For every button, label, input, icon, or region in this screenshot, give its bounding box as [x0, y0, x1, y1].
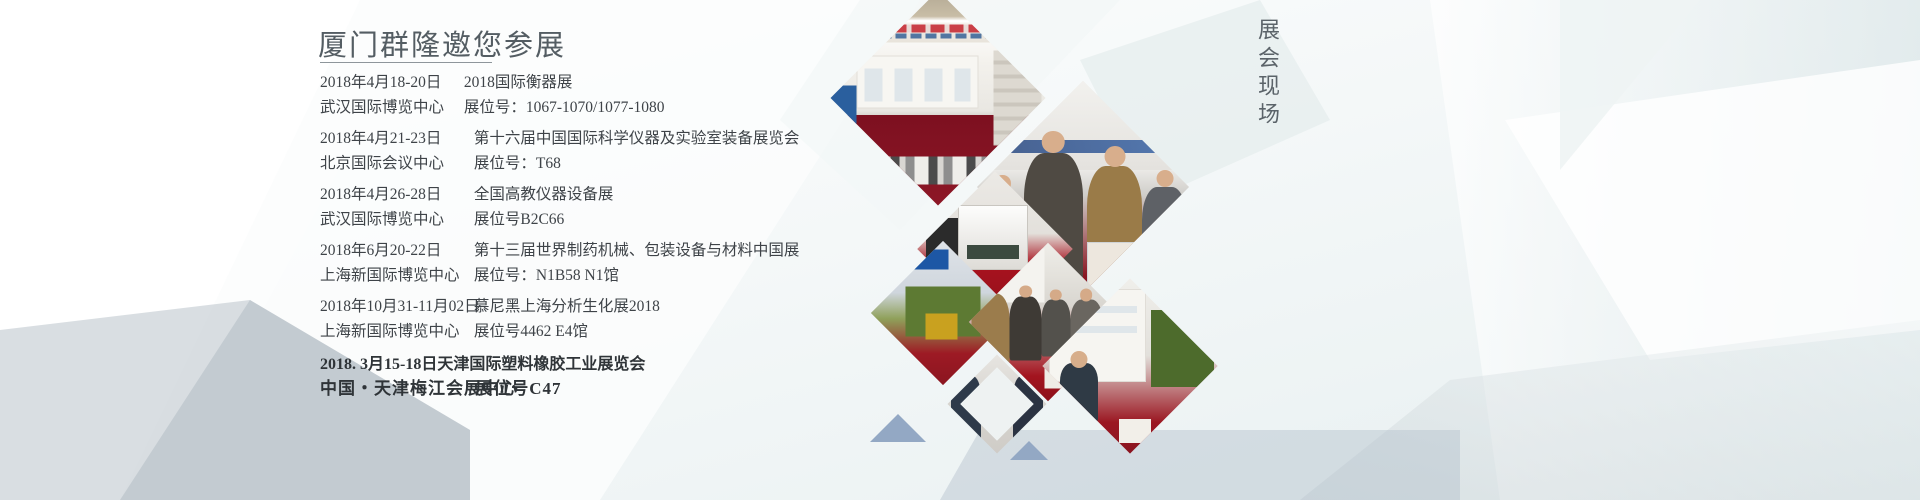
entry-booth: 展位号C47 — [475, 377, 561, 401]
entry-venue: 上海新国际博览中心 — [320, 263, 470, 288]
schedule-entry: 2018年4月26-28日 全国高教仪器设备展 武汉国际博览中心 展位号B2C6… — [320, 182, 613, 232]
schedule-entry: 2018年4月21-23日 第十六届中国国际科学仪器及实验室装备展览会 北京国际… — [320, 126, 799, 176]
entry-date: 2018年6月20-22日 — [320, 238, 470, 263]
entry-date: 2018年10月31-11月02日 — [320, 294, 470, 319]
schedule-entry: 2018年4月18-20日 2018国际衡器展 武汉国际博览中心 展位号：106… — [320, 70, 665, 120]
entry-venue: 武汉国际博览中心 — [320, 95, 460, 120]
entry-line-bottom: 武汉国际博览中心 展位号：1067-1070/1077-1080 — [320, 95, 665, 120]
entry-date: 2018年4月21-23日 — [320, 126, 470, 151]
entry-venue: 北京国际会议中心 — [320, 151, 470, 176]
entry-venue: 上海新国际博览中心 — [320, 319, 470, 344]
entry-booth: 展位号：N1B58 N1馆 — [474, 263, 619, 288]
photo-collage — [840, 0, 1260, 500]
entry-booth: 展位号4462 E4馆 — [474, 319, 588, 344]
entry-line-bottom: 上海新国际博览中心 展位号4462 E4馆 — [320, 319, 660, 344]
entry-booth: 展位号B2C66 — [474, 207, 564, 232]
entry-event: 全国高教仪器设备展 — [474, 182, 614, 207]
entry-line-top: 2018年6月20-22日 第十三届世界制药机械、包装设备与材料中国展 — [320, 238, 799, 263]
page-title: 厦门群隆邀您参展 — [318, 22, 566, 64]
entry-line-bottom: 上海新国际博览中心 展位号：N1B58 N1馆 — [320, 263, 799, 288]
schedule-entry-highlight: 2018. 3月15-18日天津国际塑料橡胶工业展览会 中国・天津梅江会展中心 … — [320, 353, 645, 401]
accent-triangle-icon — [870, 414, 926, 442]
entry-event: 2018国际衡器展 — [464, 70, 573, 95]
entry-line-top: 2018年4月21-23日 第十六届中国国际科学仪器及实验室装备展览会 — [320, 126, 799, 151]
title-underline — [320, 62, 492, 63]
entry-date: 2018年4月18-20日 — [320, 70, 460, 95]
entry-event: 慕尼黑上海分析生化展2018 — [474, 294, 660, 319]
entry-line-top: 2018年10月31-11月02日 慕尼黑上海分析生化展2018 — [320, 294, 660, 319]
accent-triangle-icon — [1010, 441, 1048, 460]
entry-event: 第十三届世界制药机械、包装设备与材料中国展 — [474, 238, 800, 263]
entry-event: 第十六届中国国际科学仪器及实验室装备展览会 — [474, 126, 800, 151]
entry-line-top: 2018年4月26-28日 全国高教仪器设备展 — [320, 182, 613, 207]
entry-date: 2018. 3月15-18日天津国际塑料橡胶工业展览会 — [320, 353, 645, 377]
entry-date: 2018年4月26-28日 — [320, 182, 470, 207]
entry-venue: 中国・天津梅江会展中心 — [320, 377, 470, 401]
entry-booth: 展位号：1067-1070/1077-1080 — [464, 95, 665, 120]
schedule-entry: 2018年6月20-22日 第十三届世界制药机械、包装设备与材料中国展 上海新国… — [320, 238, 799, 288]
entry-line-bottom: 武汉国际博览中心 展位号B2C66 — [320, 207, 613, 232]
entry-booth: 展位号：T68 — [474, 151, 561, 176]
entry-line-bottom: 北京国际会议中心 展位号：T68 — [320, 151, 799, 176]
schedule-entry: 2018年10月31-11月02日 慕尼黑上海分析生化展2018 上海新国际博览… — [320, 294, 660, 344]
entry-line-bottom: 中国・天津梅江会展中心 展位号C47 — [320, 377, 645, 401]
entry-venue: 武汉国际博览中心 — [320, 207, 470, 232]
exhibition-banner: 厦门群隆邀您参展 2018年4月18-20日 2018国际衡器展 武汉国际博览中… — [0, 0, 1920, 500]
entry-line-top: 2018. 3月15-18日天津国际塑料橡胶工业展览会 — [320, 353, 645, 377]
entry-line-top: 2018年4月18-20日 2018国际衡器展 — [320, 70, 665, 95]
